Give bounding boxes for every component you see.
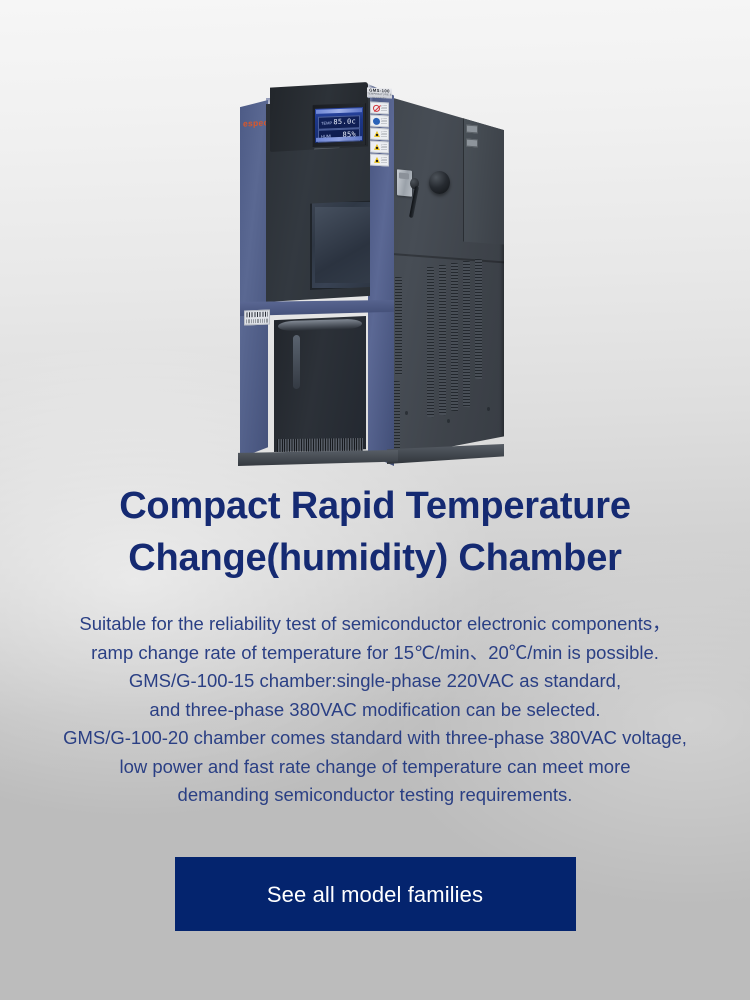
information-sticker	[370, 115, 389, 128]
caution-sticker-1	[370, 128, 389, 141]
prohibition-icon	[373, 104, 380, 111]
page-title-line-2: Change(humidity) Chamber	[128, 537, 621, 579]
warning-triangle-icon	[374, 131, 380, 137]
view-window-glass	[315, 207, 377, 283]
side-latch-upper	[466, 125, 478, 134]
vent-grille-g	[475, 259, 482, 380]
see-all-model-families-button[interactable]: See all model families	[175, 857, 576, 931]
product-description: Suitable for the reliability test of sem…	[22, 610, 728, 810]
page-title-line-1: Compact Rapid Temperature	[119, 485, 631, 527]
lower-intake-grille	[277, 438, 363, 452]
chamber-base-front	[238, 450, 398, 466]
lower-door-handle-slot[interactable]	[293, 335, 300, 389]
description-line: and three-phase 380VAC modification can …	[22, 696, 728, 725]
lcd-temp-value: 85.0c	[333, 116, 356, 128]
description-line: demanding semiconductor testing requirem…	[22, 781, 728, 810]
model-nameplate: GMS-100 TEMPERATURE & HUMIDITY CHAMBER	[367, 87, 392, 98]
copy-block: Compact Rapid Temperature Change(humidit…	[0, 480, 750, 810]
caution-sticker-3	[370, 154, 389, 167]
controller-lcd-frame: TEMP 85.0c HUMI 85%	[312, 103, 366, 147]
description-line: GMS/G-100-15 chamber:single-phase 220VAC…	[22, 667, 728, 696]
lcd-top-toolbar	[316, 108, 362, 114]
chamber-left-pillar: espec	[240, 100, 268, 458]
vent-grille-e	[451, 263, 458, 412]
screw-dot-1	[405, 411, 408, 415]
serial-barcode-label	[244, 310, 270, 326]
chamber-right-side-panel	[387, 81, 504, 459]
side-latch-lower	[466, 139, 478, 148]
right-upper-access-panel	[463, 101, 504, 244]
vent-grille-b	[393, 381, 400, 460]
screw-dot-2	[447, 419, 450, 423]
caution-sticker-2	[370, 141, 389, 154]
test-chamber-illustration: espec TEMP 85.0c	[236, 70, 504, 474]
vent-grille-d	[439, 265, 446, 416]
description-line: ramp change rate of temperature for 15℃/…	[22, 639, 728, 668]
sticker-text-lines	[381, 144, 387, 150]
warning-sticker-column	[370, 102, 387, 165]
controller-lcd-screen[interactable]: TEMP 85.0c HUMI 85%	[315, 107, 363, 143]
sticker-text-lines	[381, 105, 387, 111]
vent-grille-f	[463, 261, 470, 408]
prohibition-sticker	[370, 102, 389, 115]
door-round-knob[interactable]	[429, 171, 450, 194]
sticker-text-lines	[381, 118, 387, 124]
screw-dot-3	[487, 407, 490, 411]
information-icon	[373, 117, 380, 124]
description-line: Suitable for the reliability test of sem…	[22, 610, 728, 639]
product-photo: espec TEMP 85.0c	[0, 0, 750, 480]
warning-triangle-icon	[374, 157, 380, 163]
vent-grille-c	[427, 267, 434, 418]
sticker-text-lines	[381, 157, 387, 163]
vent-grille-a	[395, 277, 402, 376]
product-hero-page: espec TEMP 85.0c	[0, 0, 750, 1000]
brand-logo: espec	[243, 117, 269, 128]
warning-triangle-icon	[374, 144, 380, 150]
page-title: Compact Rapid Temperature Change(humidit…	[0, 480, 750, 584]
controller-housing: TEMP 85.0c HUMI 85%	[270, 82, 368, 152]
description-line: low power and fast rate change of temper…	[22, 753, 728, 782]
lcd-temp-label: TEMP	[321, 117, 332, 128]
sticker-text-lines	[381, 131, 387, 137]
chamber-lower-door	[274, 316, 366, 452]
cta-container: See all model families	[0, 857, 750, 931]
description-line: GMS/G-100-20 chamber comes standard with…	[22, 724, 728, 753]
